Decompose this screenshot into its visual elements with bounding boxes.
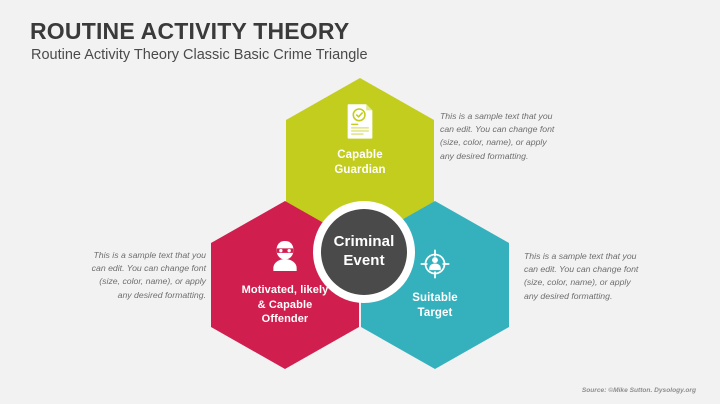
label-line-2: Target: [418, 307, 453, 319]
center-label-line-1: Criminal: [334, 233, 395, 252]
label-line-1: Suitable: [412, 292, 458, 304]
center-node-criminal-event[interactable]: Criminal Event: [321, 209, 407, 295]
label-line-3: Offender: [262, 313, 309, 325]
label-line-2: Guardian: [334, 164, 385, 176]
certificate-document-icon: [343, 102, 377, 140]
page-title: ROUTINE ACTIVITY THEORY: [30, 18, 349, 45]
crosshair-person-target-icon: [418, 245, 452, 283]
source-credit: Source: ©Mike Sutton. Dysology.org: [582, 387, 696, 394]
crime-triangle-diagram: Capable Guardian Motivated, likely & Cap…: [0, 60, 720, 390]
note-capable-guardian[interactable]: This is a sample text that you can edit.…: [440, 110, 562, 163]
center-label-line-2: Event: [343, 252, 384, 271]
note-motivated-offender[interactable]: This is a sample text that you can edit.…: [84, 249, 206, 302]
slide-canvas: ROUTINE ACTIVITY THEORY Routine Activity…: [0, 0, 720, 404]
hexagon-label-capable-guardian: Capable Guardian: [290, 148, 430, 178]
label-line-1: Motivated, likely: [242, 284, 329, 296]
masked-burglar-icon: [268, 237, 302, 275]
label-line-2: & Capable: [258, 299, 313, 311]
label-line-1: Capable: [337, 149, 382, 161]
note-suitable-target[interactable]: This is a sample text that you can edit.…: [524, 250, 646, 303]
